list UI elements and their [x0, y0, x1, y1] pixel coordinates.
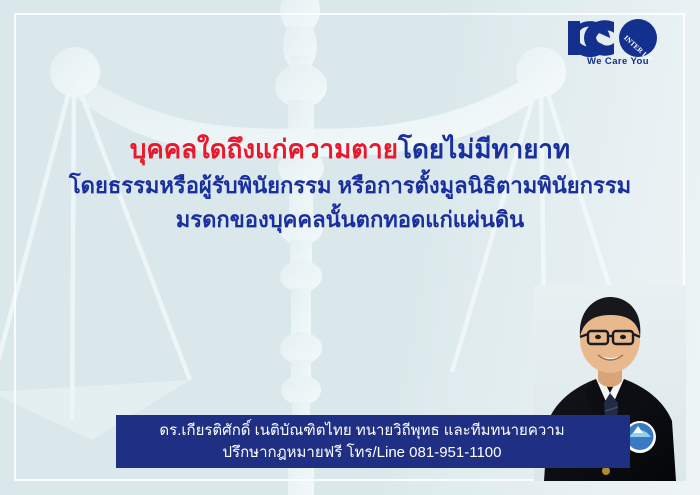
banner-name-line: ดร.เกียรติศักดิ์ เนติบัณฑิตไทย ทนายวิถีพ…	[116, 420, 608, 442]
logo-mark: INTER LAW	[564, 16, 672, 60]
logo-glyph: INTER LAW	[564, 16, 672, 60]
jacket-button	[602, 467, 610, 475]
eye-right	[620, 335, 626, 339]
headline-line-1-blue: โดยไม่มีทายาท	[398, 134, 570, 164]
eye-left	[595, 335, 601, 339]
headline-line-2: โดยธรรมหรือผู้รับพินัยกรรม หรือการตั้งมู…	[0, 172, 700, 200]
headline-line-1: บุคคลใดถึงแก่ความตายโดยไม่มีทายาท	[0, 133, 700, 166]
headline-line-1-red: บุคคลใดถึงแก่ความตาย	[130, 134, 398, 164]
ico-inter-law-logo[interactable]: INTER LAW We Care You	[564, 16, 672, 78]
headline-line-3: มรดกของบุคคลนั้นตกทอดแก่แผ่นดิน	[0, 206, 700, 234]
contact-banner: ดร.เกียรติศักดิ์ เนติบัณฑิตไทย ทนายวิถีพ…	[116, 415, 630, 468]
poster-canvas: INTER LAW We Care You บุคคลใดถึงแก่ความต…	[0, 0, 700, 495]
banner-contact-line[interactable]: ปรึกษากฎหมายฟรี โทร/Line 081-951-1100	[116, 442, 608, 464]
headline-block: บุคคลใดถึงแก่ความตายโดยไม่มีทายาท โดยธรร…	[0, 133, 700, 235]
